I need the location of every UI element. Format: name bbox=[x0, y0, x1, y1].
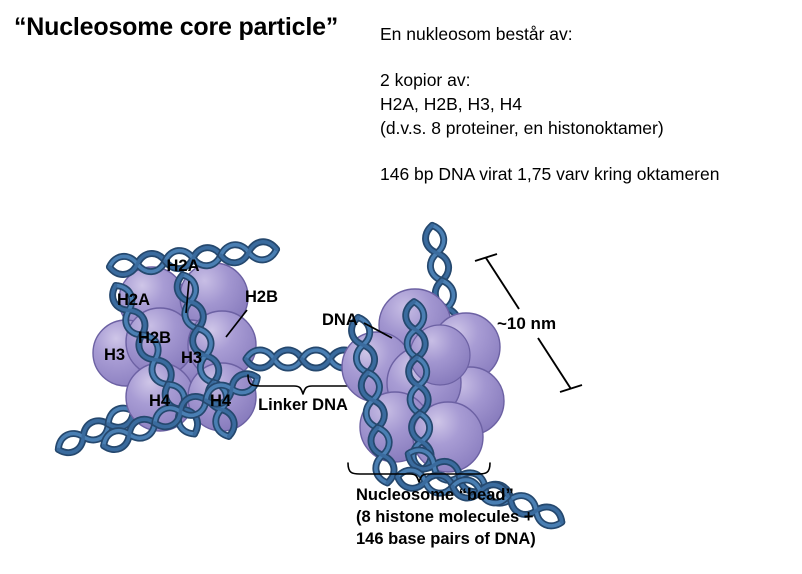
label-scale: ~10 nm bbox=[497, 314, 556, 333]
caption-line-2: (8 histone molecules + bbox=[356, 508, 533, 526]
slide-canvas: “Nucleosome core particle” En nukleosom … bbox=[0, 0, 802, 574]
note-line-3: H2A, H2B, H3, H4 bbox=[380, 96, 719, 120]
note-line-4: (d.v.s. 8 proteiner, en histonoktamer) bbox=[380, 120, 719, 144]
label-h3-mid: H3 bbox=[181, 349, 202, 367]
scale-line-upper bbox=[486, 258, 519, 309]
label-h4-left: H4 bbox=[149, 392, 171, 410]
label-h3-left: H3 bbox=[104, 346, 125, 364]
label-h4-right: H4 bbox=[210, 392, 232, 410]
label-h2b-right: H2B bbox=[245, 288, 278, 306]
caption-line-1: Nucleosome “bead” bbox=[356, 486, 514, 504]
note-spacer-2 bbox=[380, 144, 719, 166]
caption-line-3: 146 base pairs of DNA) bbox=[356, 530, 536, 548]
lecture-notes: En nukleosom består av: 2 kopior av: H2A… bbox=[380, 26, 719, 190]
label-dna: DNA bbox=[322, 311, 358, 329]
note-line-2: 2 kopior av: bbox=[380, 72, 719, 96]
label-h2a-left: H2A bbox=[117, 291, 150, 309]
scale-cap-bottom bbox=[560, 385, 582, 392]
note-line-1: En nukleosom består av: bbox=[380, 26, 719, 50]
note-spacer-1 bbox=[380, 50, 719, 72]
label-h2a-top: H2A bbox=[166, 257, 199, 275]
page-title: “Nucleosome core particle” bbox=[14, 13, 338, 42]
left-nucleosome: H2A H2A H2B H3 H3 H4 H4 H2B bbox=[54, 240, 278, 457]
note-line-5: 146 bp DNA virat 1,75 varv kring oktamer… bbox=[380, 166, 719, 190]
linker-dna-brace bbox=[248, 375, 358, 394]
nucleosome-diagram: H2A H2A H2B H3 H3 H4 H4 H2B bbox=[0, 205, 802, 574]
label-linker-dna: Linker DNA bbox=[258, 396, 348, 414]
scale-cap-top bbox=[475, 254, 497, 261]
right-nucleosome: DNA bbox=[322, 224, 565, 530]
label-h2b-inner: H2B bbox=[138, 329, 171, 347]
scale-line-lower bbox=[538, 338, 571, 389]
